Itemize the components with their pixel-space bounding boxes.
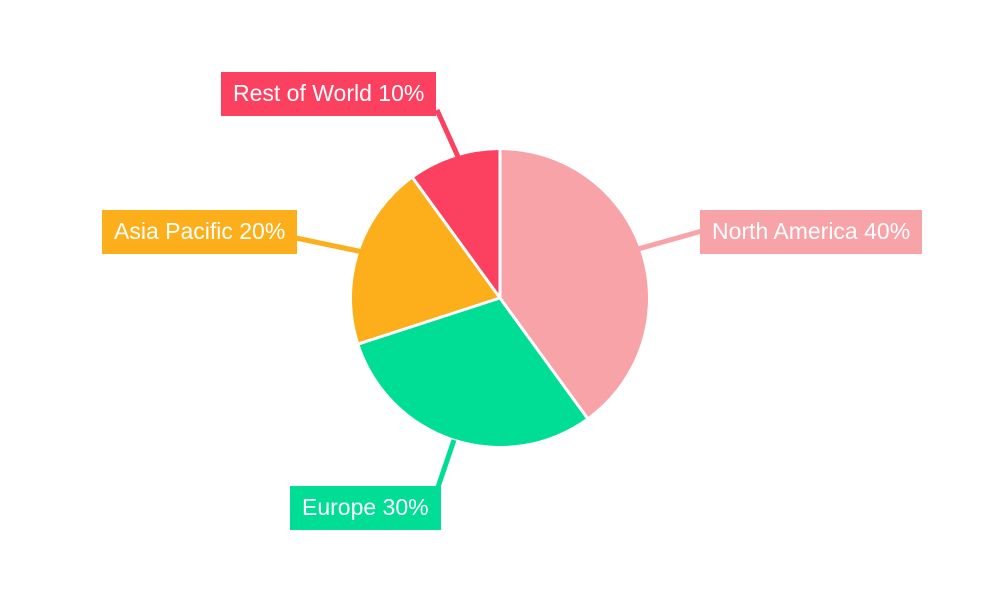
pie-chart: North America 40% Europe 30% Asia Pacifi… <box>0 0 1000 600</box>
pie-label-text-asia-pacific: Asia Pacific 20% <box>114 218 285 244</box>
pie-label-north-america: North America 40% <box>700 210 922 254</box>
pie-label-rest-of-world: Rest of World 10% <box>221 72 436 116</box>
pie-label-asia-pacific: Asia Pacific 20% <box>102 210 297 254</box>
pie-label-europe: Europe 30% <box>290 486 441 530</box>
pie-label-text-europe: Europe 30% <box>302 494 429 520</box>
pie-label-text-rest-of-world: Rest of World 10% <box>233 80 424 106</box>
pie-label-text-north-america: North America 40% <box>712 218 910 244</box>
leader-line-europe <box>437 440 454 490</box>
leader-line-asia-pacific <box>296 238 363 252</box>
leader-line-north-america <box>638 231 702 249</box>
pie-chart-canvas <box>0 0 1000 600</box>
